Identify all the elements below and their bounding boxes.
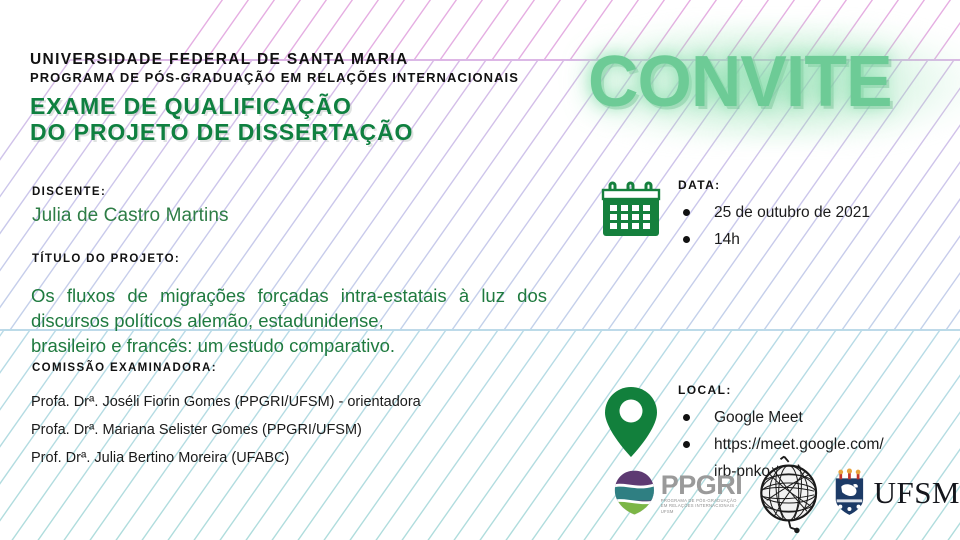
logo-strip: PPGRI PROGRAMA DE PÓS-GRADUAÇÃO EM RELAÇ… xyxy=(612,452,960,534)
project-title-label: TÍTULO DO PROJETO: xyxy=(32,253,180,265)
project-title: Os fluxos de migrações forçadas intra-es… xyxy=(31,283,547,358)
convite-banner-text: CONVITE xyxy=(588,44,949,120)
ppgri-word: PPGRI xyxy=(661,472,746,498)
committee-list: Profa. Drª. Joséli Fiorin Gomes (PPGRI/U… xyxy=(31,388,551,472)
project-title-line1: Os fluxos de migrações forçadas intra-es… xyxy=(31,285,505,306)
committee-label: COMISSÃO EXAMINADORA: xyxy=(32,362,217,374)
calendar-icon xyxy=(600,178,662,245)
globe-sketch-icon xyxy=(754,451,825,535)
date-label: DATA: xyxy=(678,178,950,192)
header-block: UNIVERSIDADE FEDERAL DE SANTA MARIA PROG… xyxy=(30,50,590,145)
ufsm-shield-icon xyxy=(833,467,866,519)
list-item: Profa. Drª. Joséli Fiorin Gomes (PPGRI/U… xyxy=(31,388,551,416)
ufsm-word: UFSM xyxy=(874,477,960,509)
date-body: DATA: 25 de outubro de 2021 14h xyxy=(678,178,950,253)
list-item: Google Meet xyxy=(678,404,950,431)
project-title-line3: brasileiro e francês: um estudo comparat… xyxy=(31,333,547,358)
date-block: DATA: 25 de outubro de 2021 14h xyxy=(600,178,950,253)
discente-name: Julia de Castro Martins xyxy=(32,205,229,227)
list-item: 14h xyxy=(678,226,950,253)
list-item: 25 de outubro de 2021 xyxy=(678,199,950,226)
list-item: Profa. Drª. Mariana Selister Gomes (PPGR… xyxy=(31,416,551,444)
ppgri-logo: PPGRI PROGRAMA DE PÓS-GRADUAÇÃO EM RELAÇ… xyxy=(612,468,746,518)
university-name: UNIVERSIDADE FEDERAL DE SANTA MARIA xyxy=(30,50,590,69)
date-list: 25 de outubro de 2021 14h xyxy=(678,199,950,253)
ppgri-wordmark: PPGRI PROGRAMA DE PÓS-GRADUAÇÃO EM RELAÇ… xyxy=(661,472,746,515)
program-name: PROGRAMA DE PÓS-GRADUAÇÃO EM RELAÇÕES IN… xyxy=(30,69,590,86)
exam-title-line2: DO PROJETO DE DISSERTAÇÃO xyxy=(30,119,590,145)
exam-title: EXAME DE QUALIFICAÇÃO DO PROJETO DE DISS… xyxy=(30,93,590,145)
discente-label: DISCENTE: xyxy=(32,186,106,198)
list-item: Prof. Drª. Julia Bertino Moreira (UFABC) xyxy=(31,444,551,472)
local-label: LOCAL: xyxy=(678,383,950,397)
exam-title-line1: EXAME DE QUALIFICAÇÃO xyxy=(30,93,352,119)
ppgri-subtitle-line2: EM RELAÇÕES INTERNACIONAIS - UFSM xyxy=(661,503,746,514)
ppgri-emblem-icon xyxy=(612,468,657,518)
invitation-poster: UNIVERSIDADE FEDERAL DE SANTA MARIA PROG… xyxy=(0,0,960,540)
